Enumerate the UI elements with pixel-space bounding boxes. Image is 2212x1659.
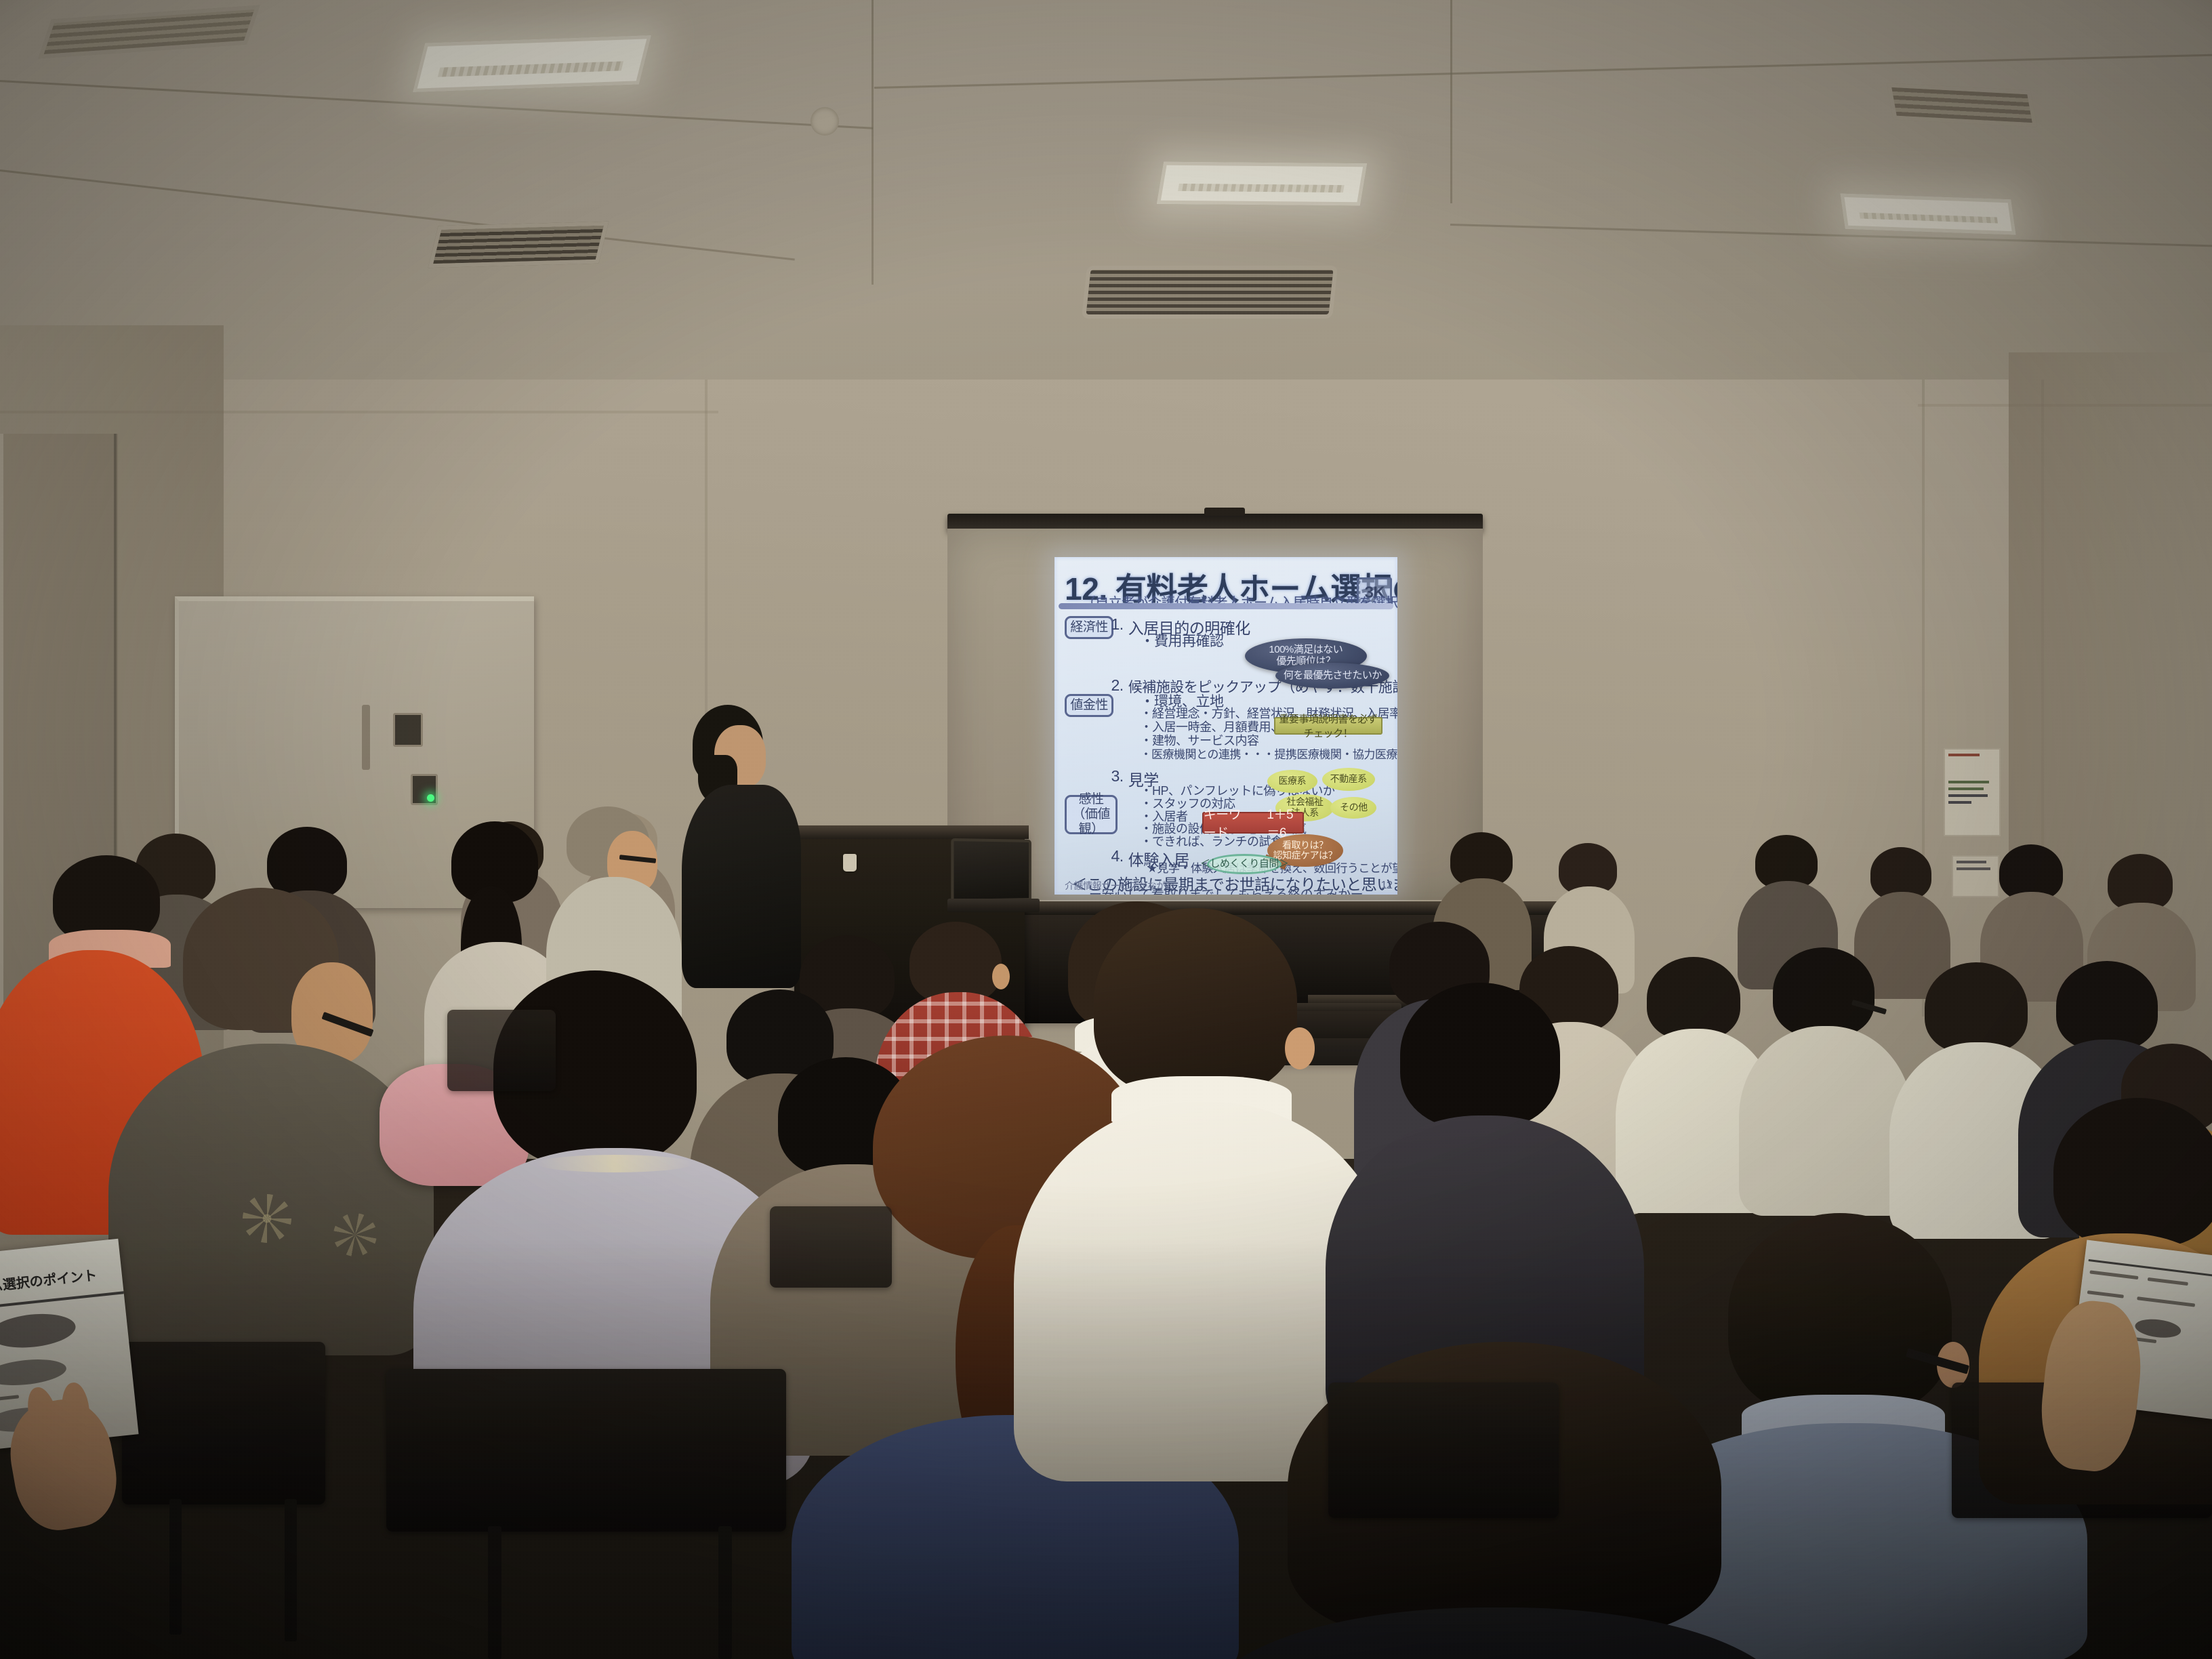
slide-section-number: 3. xyxy=(1111,767,1123,785)
slide-bullet: ・医療機関との連携・・・提携医療機関・協力医療機関、 治療範囲 xyxy=(1141,745,1398,762)
slide-bullet: ・費用再確認 xyxy=(1141,630,1224,651)
laptop-base[interactable] xyxy=(947,899,1040,912)
presenter-jacket xyxy=(682,785,801,988)
chair[interactable] xyxy=(770,1206,892,1288)
slide-callout-realestate-type: 不動産系 xyxy=(1322,768,1375,791)
slide-callout-other-type: その他 xyxy=(1330,797,1376,819)
smoke-detector-icon xyxy=(811,107,839,136)
podium-top xyxy=(787,825,1029,839)
ceiling-seam xyxy=(872,0,874,285)
slide-section-number: 1. xyxy=(1111,615,1123,634)
wall-notice xyxy=(1944,748,2001,836)
laptop-screen[interactable] xyxy=(951,838,1031,902)
wall-seam xyxy=(1918,404,2212,407)
chair[interactable] xyxy=(122,1342,325,1504)
water-cup xyxy=(843,854,857,872)
shirt-pattern xyxy=(333,1213,377,1256)
chair[interactable] xyxy=(1328,1382,1559,1518)
chair-leg xyxy=(169,1499,182,1635)
slide-keyword-box: キーワード 1＋5＝6 xyxy=(1202,812,1304,834)
slide-title-rule xyxy=(1059,603,1393,609)
slide-callout-medical-type: 医療系 xyxy=(1267,770,1317,793)
handout-title: ホーム選択のポイント xyxy=(0,1264,98,1298)
air-vent xyxy=(1082,266,1338,319)
wall-control-panel[interactable] xyxy=(393,713,423,747)
wall-control-panel[interactable] xyxy=(411,774,438,805)
slide-section-number: 4. xyxy=(1111,847,1123,865)
slide-callout-check-document: 重要事項説明書を必ずチェック！ xyxy=(1274,717,1382,735)
ceiling-seam xyxy=(1450,0,1452,203)
seminar-room-photo: 12. 有料老人ホーム選択のポイント 3K （自立者が介護付有料老人ホーム入居時… xyxy=(0,0,2212,1659)
ceiling-light-panel xyxy=(413,35,651,91)
wall-seam xyxy=(0,411,718,413)
wall-notice xyxy=(1952,855,1999,897)
chair[interactable] xyxy=(386,1369,786,1532)
chair-leg xyxy=(718,1526,732,1659)
chair-leg xyxy=(285,1499,297,1641)
slide-section-number: 2. xyxy=(1111,676,1123,695)
projected-slide: 12. 有料老人ホーム選択のポイント 3K （自立者が介護付有料老人ホーム入居時… xyxy=(1054,557,1397,895)
slide-tag-sensibility: 感性 （価値観） xyxy=(1065,795,1118,834)
presenter xyxy=(678,705,813,989)
slide-logo-text: 介護情報サービスかながわ xyxy=(1065,879,1174,893)
wall-cable-trunk xyxy=(362,705,370,770)
chair-leg xyxy=(488,1526,501,1659)
chair[interactable] xyxy=(447,1010,556,1091)
air-vent xyxy=(428,222,609,268)
ceiling-light-panel xyxy=(1841,194,2016,235)
slide-tag-economy: 経済性 xyxy=(1065,616,1113,639)
slide-page-number: 12 xyxy=(1381,880,1393,892)
shirt-pattern xyxy=(243,1194,291,1243)
air-vent xyxy=(1887,83,2037,127)
slide-tag-value: 値金性 xyxy=(1065,694,1113,717)
necklace xyxy=(537,1155,693,1172)
status-led-icon xyxy=(427,794,434,802)
ceiling-light-panel xyxy=(1157,162,1367,206)
